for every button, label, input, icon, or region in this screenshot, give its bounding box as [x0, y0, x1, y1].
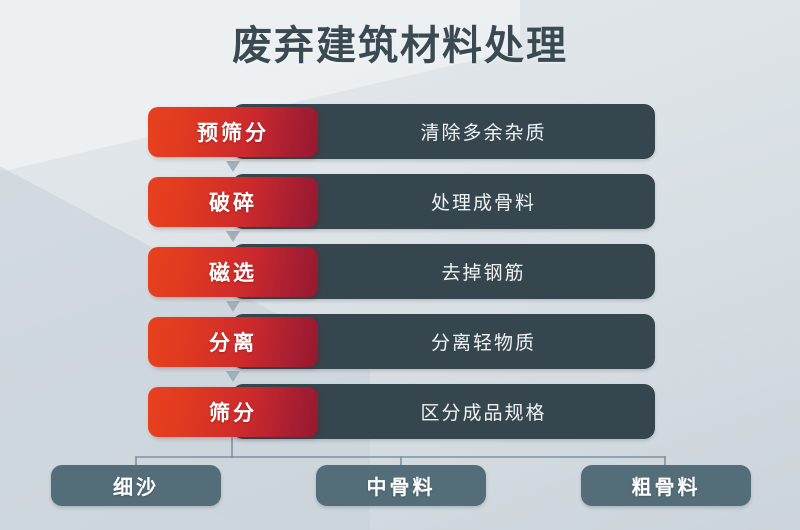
infographic-canvas: 废弃建筑材料处理 清除多余杂质 预筛分 处理成骨料 破碎: [0, 0, 800, 530]
page-title: 废弃建筑材料处理: [0, 20, 800, 72]
output-label: 细沙: [113, 471, 159, 500]
step-stage-badge[interactable]: 破碎: [148, 177, 318, 227]
triangle-down-icon: [226, 161, 240, 172]
step-stage-badge[interactable]: 预筛分: [148, 107, 318, 157]
triangle-down-icon: [226, 301, 240, 312]
step-description-label: 处理成骨料: [351, 188, 536, 215]
process-step-row[interactable]: 清除多余杂质 预筛分: [0, 104, 800, 174]
process-step-row[interactable]: 去掉钢筋 磁选: [0, 244, 800, 314]
output-box[interactable]: 粗骨料: [581, 465, 751, 506]
output-label: 粗骨料: [632, 471, 701, 500]
step-stage-badge[interactable]: 磁选: [148, 247, 318, 297]
step-description-label: 区分成品规格: [340, 398, 546, 425]
output-label: 中骨料: [367, 471, 436, 500]
step-stage-label: 筛分: [209, 397, 257, 427]
triangle-down-icon: [226, 231, 240, 242]
step-stage-label: 破碎: [209, 187, 257, 217]
process-step-row[interactable]: 处理成骨料 破碎: [0, 174, 800, 244]
process-step-row[interactable]: 区分成品规格 筛分: [0, 384, 800, 454]
output-box[interactable]: 中骨料: [316, 465, 486, 506]
output-box[interactable]: 细沙: [51, 465, 221, 506]
process-step-row[interactable]: 分离轻物质 分离: [0, 314, 800, 384]
step-stage-label: 分离: [209, 327, 257, 357]
output-product-list: 细沙 中骨料 粗骨料: [0, 465, 800, 507]
step-stage-badge[interactable]: 分离: [148, 317, 318, 367]
step-stage-label: 磁选: [209, 257, 257, 287]
step-stage-badge[interactable]: 筛分: [148, 387, 318, 437]
step-description-label: 清除多余杂质: [340, 118, 546, 145]
step-description-label: 分离轻物质: [351, 328, 536, 355]
step-description-label: 去掉钢筋: [361, 258, 525, 285]
process-step-list: 清除多余杂质 预筛分 处理成骨料 破碎 去掉钢筋 磁选: [0, 104, 800, 454]
step-stage-label: 预筛分: [197, 117, 269, 147]
triangle-down-icon: [226, 371, 240, 382]
